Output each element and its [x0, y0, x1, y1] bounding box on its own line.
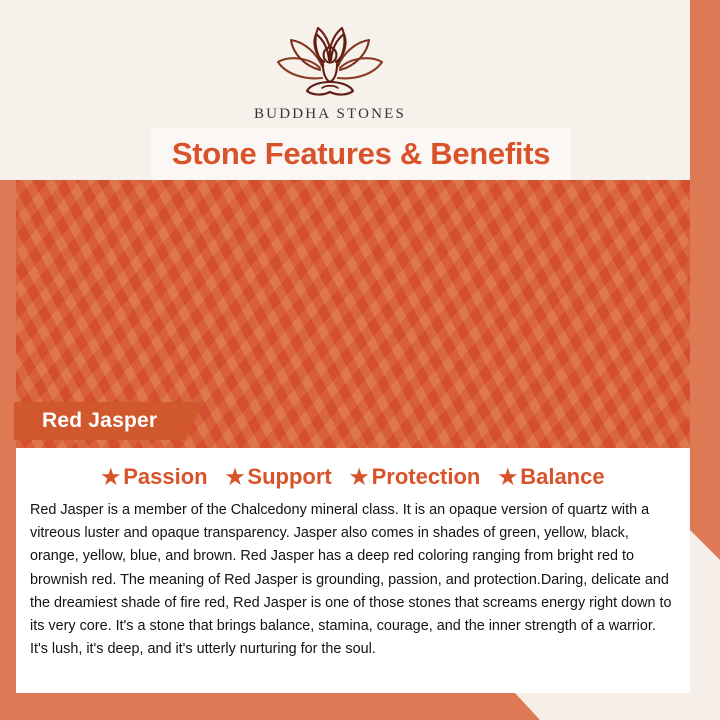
infographic-page: BUDDHA STONES Stone Features & Benefits …: [0, 0, 720, 720]
brand-lockup: BUDDHA STONES: [0, 22, 660, 123]
star-icon: ★: [226, 467, 245, 488]
benefit-item: ★ Balance: [498, 464, 604, 490]
stone-description: Red Jasper is a member of the Chalcedony…: [30, 499, 672, 661]
stone-name-badge: Red Jasper: [14, 402, 203, 440]
benefits-row: ★ Passion ★ Support ★ Protection ★ Balan…: [16, 448, 690, 490]
lotus-meditation-icon: [260, 22, 400, 100]
brand-wordmark: BUDDHA STONES: [254, 106, 406, 123]
left-accent-bar: [0, 175, 16, 695]
benefit-label: Protection: [372, 464, 481, 490]
content-panel: ★ Passion ★ Support ★ Protection ★ Balan…: [16, 448, 690, 693]
star-icon: ★: [498, 467, 517, 488]
benefit-item: ★ Protection: [350, 464, 481, 490]
benefit-label: Passion: [123, 464, 207, 490]
right-accent-bar: [690, 0, 720, 560]
benefit-item: ★ Passion: [101, 464, 207, 490]
star-icon: ★: [350, 467, 369, 488]
page-title: Stone Features & Benefits: [172, 136, 550, 172]
benefit-item: ★ Support: [226, 464, 332, 490]
bottom-accent-bar: [0, 693, 540, 720]
title-card: Stone Features & Benefits: [151, 128, 571, 180]
benefit-label: Support: [247, 464, 331, 490]
stone-name-label: Red Jasper: [42, 409, 157, 433]
star-icon: ★: [101, 467, 120, 488]
benefit-label: Balance: [520, 464, 604, 490]
